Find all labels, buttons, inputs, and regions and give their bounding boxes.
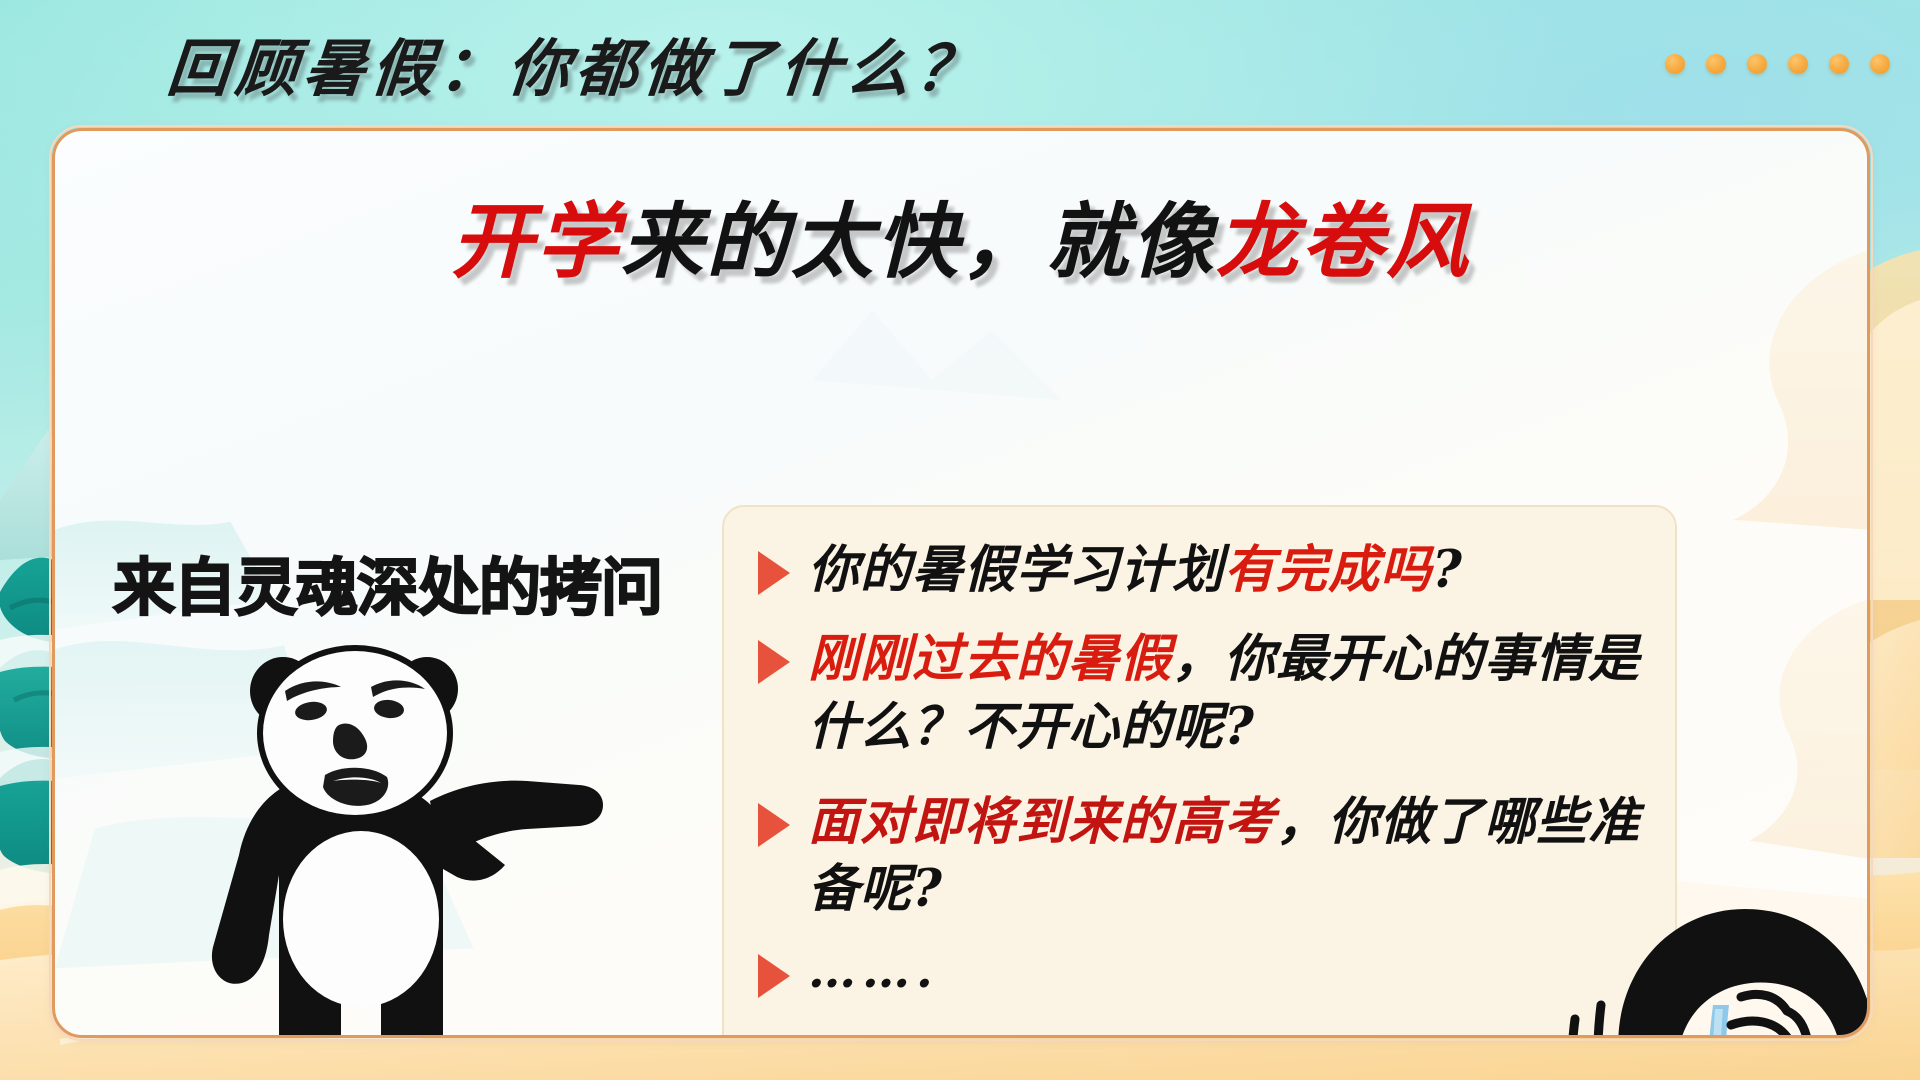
pointing-panda-meme-icon — [175, 629, 605, 1038]
header-dot — [1829, 54, 1849, 74]
question-panel: 你的暑假学习计划有完成吗? 刚刚过去的暑假，你最开心的事情是什么？不开心的呢? … — [722, 505, 1677, 1038]
question-text: 刚刚过去的暑假，你最开心的事情是什么？不开心的呢? — [808, 626, 1641, 761]
headline-segment-1: 开学 — [451, 194, 621, 290]
question-part-highlight: 刚刚过去的暑假 — [808, 629, 1172, 689]
question-text-ellipsis: ……. — [808, 940, 939, 1003]
header-dot — [1747, 54, 1767, 74]
question-text: 你的暑假学习计划有完成吗? — [808, 537, 1463, 604]
question-item[interactable]: 面对即将到来的高考，你做了哪些准备呢? — [752, 789, 1641, 924]
question-item[interactable]: 你的暑假学习计划有完成吗? — [752, 537, 1641, 604]
slide-header: 回顾暑假：你都做了什么？ — [0, 0, 1920, 128]
header-dot — [1665, 54, 1685, 74]
triangle-bullet-icon — [758, 551, 790, 595]
question-part: 你的暑假学习计划 — [808, 540, 1224, 600]
headline: 开学来的太快，就像龙卷风 — [55, 175, 1867, 294]
triangle-bullet-icon — [758, 803, 790, 847]
headline-segment-2: 来的太快，就像 — [621, 194, 1216, 290]
question-item[interactable]: ……. — [752, 940, 1641, 1003]
content-card: 开学来的太快，就像龙卷风 来自灵魂深处的拷问 — [52, 128, 1870, 1038]
crying-girl-meme-icon — [1545, 879, 1870, 1038]
question-part-highlight: 有完成吗 — [1224, 540, 1432, 600]
header-dot-decoration — [1665, 54, 1890, 74]
meme-caption: 来自灵魂深处的拷问 — [113, 537, 662, 627]
question-text: 面对即将到来的高考，你做了哪些准备呢? — [808, 789, 1641, 924]
triangle-bullet-icon — [758, 954, 790, 998]
page-title: 回顾暑假：你都做了什么？ — [164, 18, 988, 108]
header-dot — [1706, 54, 1726, 74]
question-item[interactable]: 刚刚过去的暑假，你最开心的事情是什么？不开心的呢? — [752, 626, 1641, 761]
headline-segment-3: 龙卷风 — [1216, 194, 1471, 290]
header-dot — [1788, 54, 1808, 74]
triangle-bullet-icon — [758, 640, 790, 684]
header-dot — [1870, 54, 1890, 74]
question-part-highlight: 面对即将到来的高考 — [808, 792, 1276, 852]
question-part: ? — [1432, 540, 1463, 600]
